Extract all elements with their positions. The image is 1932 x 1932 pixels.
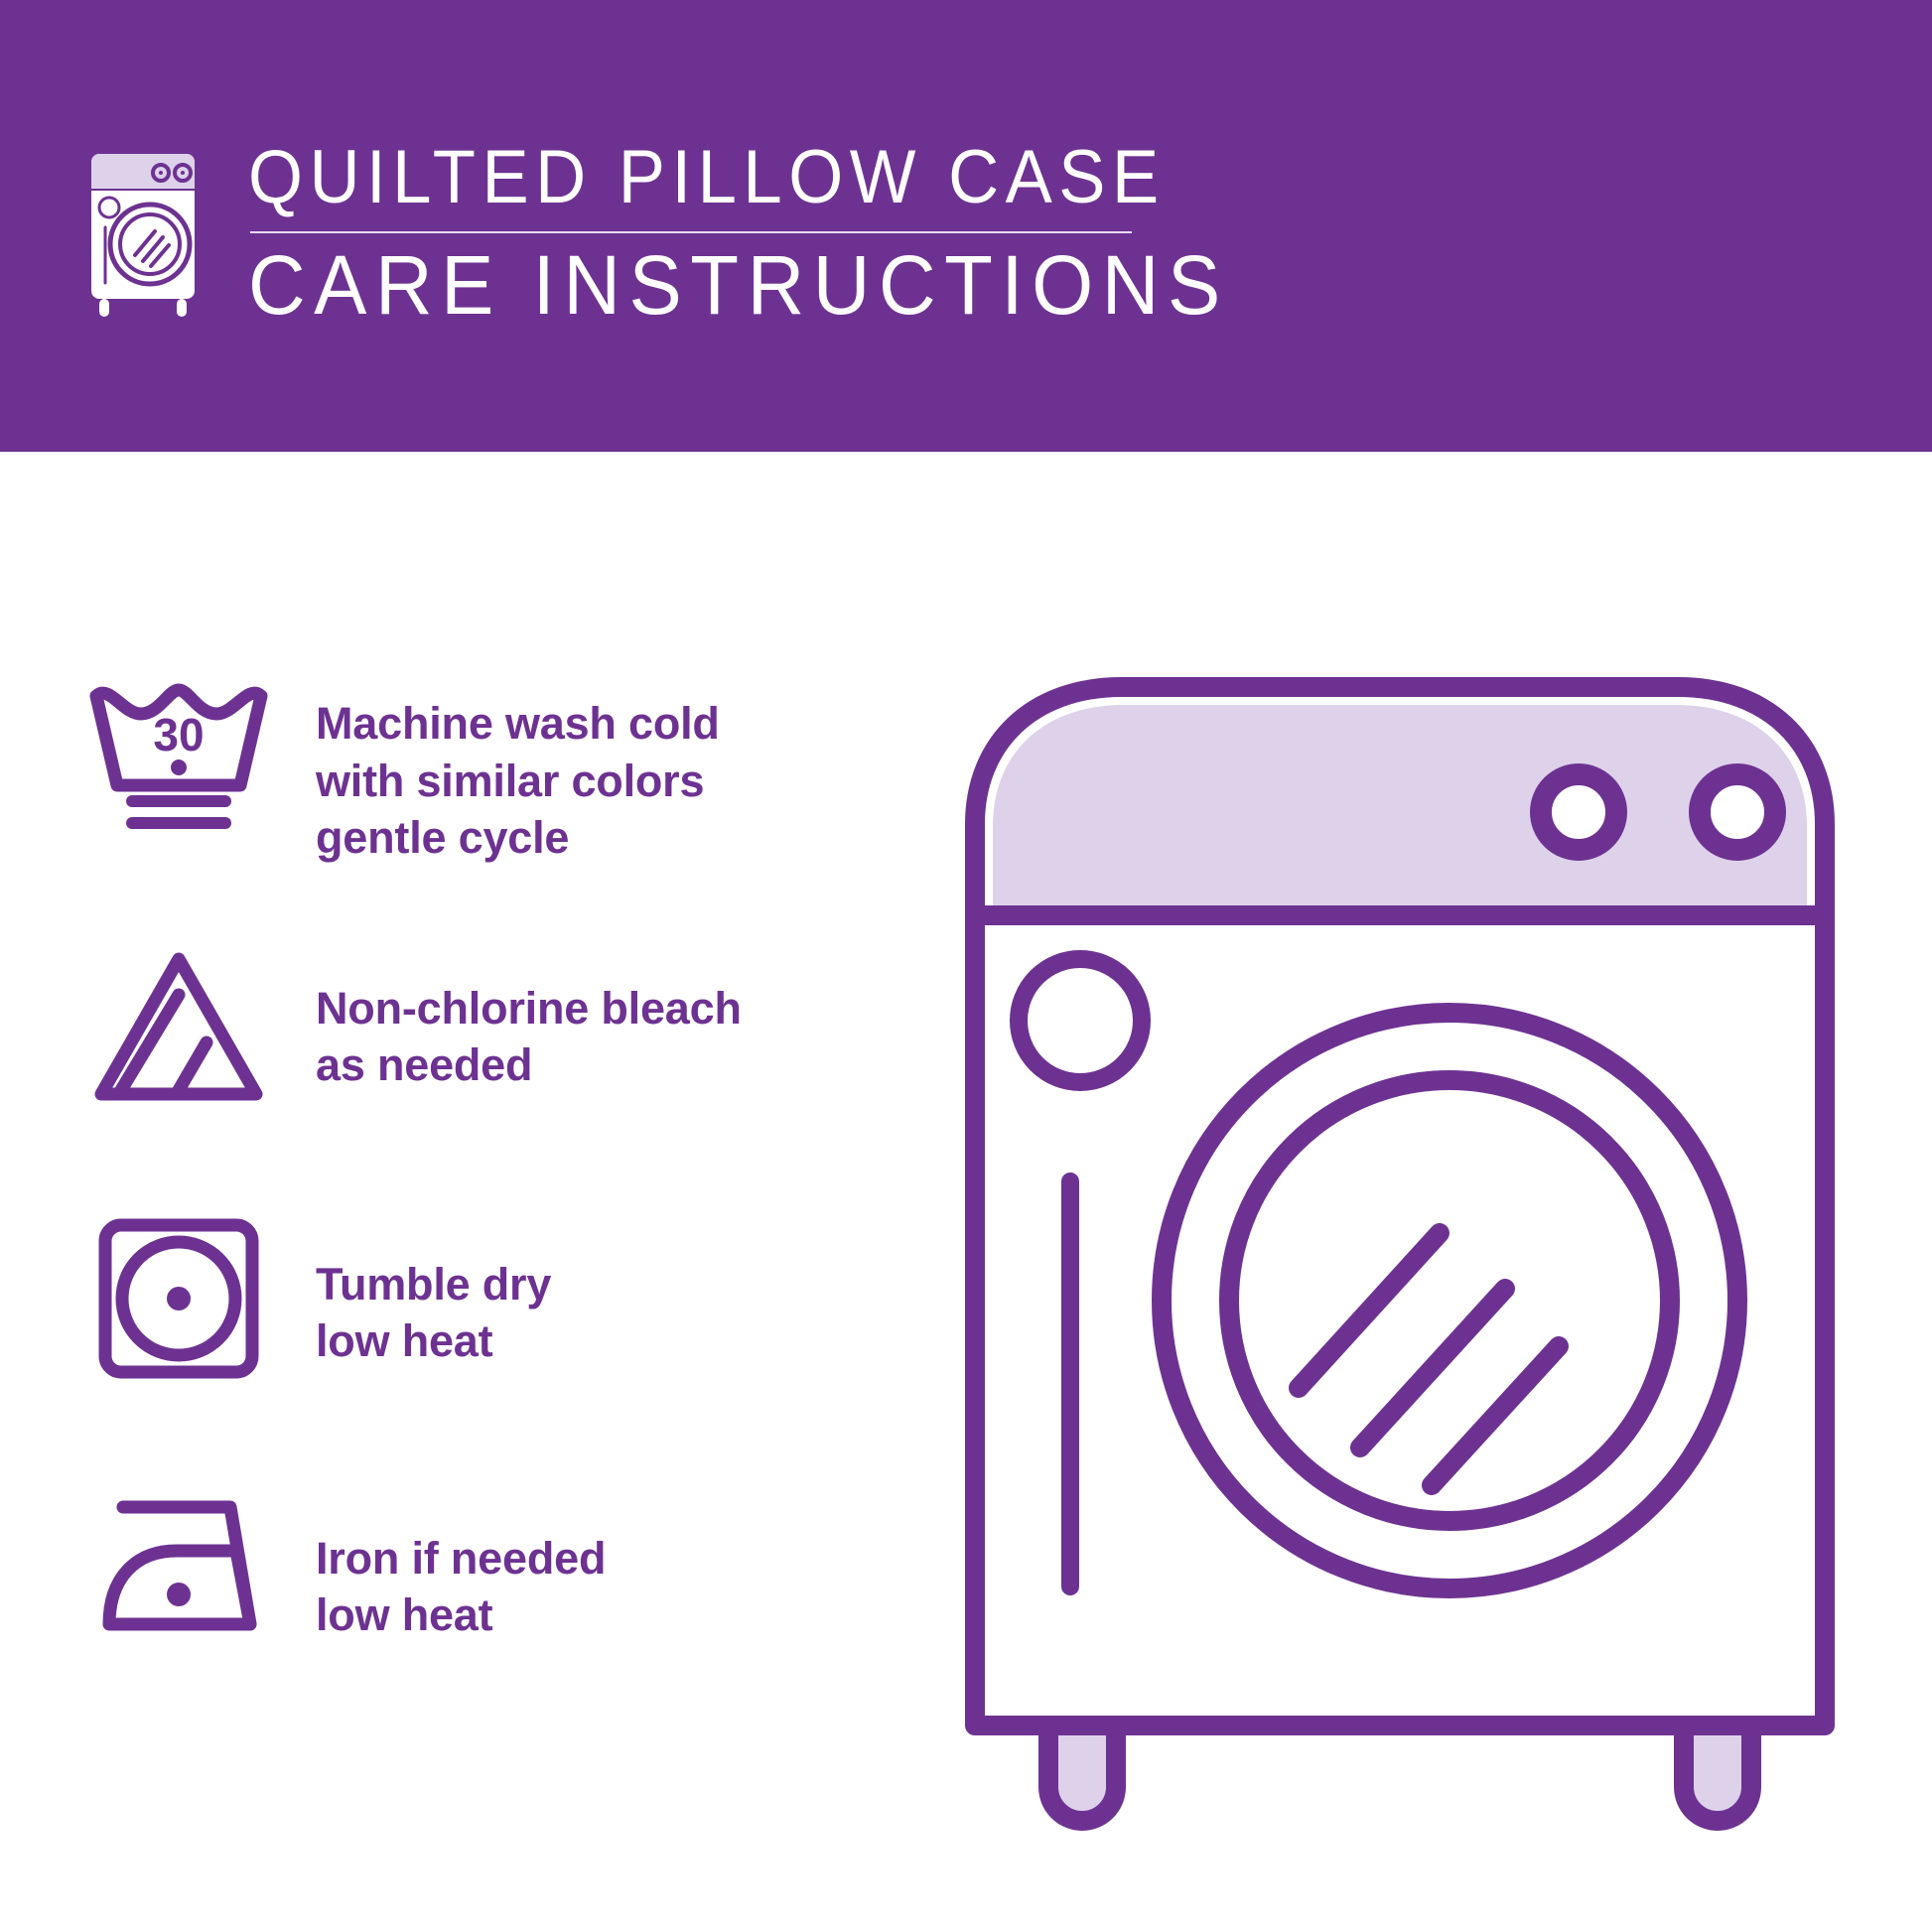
- control-knob-left[interactable]: [1541, 774, 1616, 850]
- care-symbol-tumble-dry: [79, 1198, 278, 1397]
- care-text-tumble-dry: Tumble dry low heat: [278, 1198, 903, 1370]
- control-knob-right[interactable]: [1700, 774, 1775, 850]
- care-instruction-list: 30 Machine wash cold with similar colors…: [79, 663, 903, 1726]
- care-text-wash: Machine wash cold with similar colors ge…: [278, 663, 903, 867]
- care-row-iron: Iron if needed low heat: [79, 1468, 903, 1667]
- wash-temperature-label: 30: [153, 709, 204, 760]
- non-chlorine-bleach-triangle-icon: [79, 943, 278, 1112]
- machine-foot-left: [1048, 1725, 1116, 1821]
- care-line: Tumble dry: [316, 1256, 903, 1313]
- care-symbol-wash: 30: [79, 663, 278, 862]
- care-line: gentle cycle: [316, 809, 903, 867]
- title-divider: [250, 231, 1132, 233]
- care-line: low heat: [316, 1312, 903, 1370]
- header-banner: QUILTED PILLOW CASE CARE INSTRUCTIONS: [0, 0, 1932, 452]
- care-line: Non-chlorine bleach: [316, 980, 903, 1037]
- care-row-wash: 30 Machine wash cold with similar colors…: [79, 663, 903, 867]
- care-line: low heat: [316, 1587, 903, 1644]
- care-row-bleach: Non-chlorine bleach as needed: [79, 928, 903, 1127]
- washing-machine-illustration: [953, 625, 1847, 1866]
- iron-low-heat-icon: [79, 1483, 278, 1652]
- care-line: Iron if needed: [316, 1530, 903, 1587]
- care-symbol-bleach: [79, 928, 278, 1127]
- machine-foot-right: [1684, 1725, 1751, 1821]
- care-line: with similar colors: [316, 753, 903, 810]
- header-title-group: QUILTED PILLOW CASE CARE INSTRUCTIONS: [248, 139, 1281, 329]
- care-symbol-iron: [79, 1468, 278, 1667]
- care-row-tumble-dry: Tumble dry low heat: [79, 1198, 903, 1397]
- wash-basin-30-gentle-icon: 30: [79, 678, 278, 847]
- washing-machine-icon: [77, 146, 208, 325]
- care-line: as needed: [316, 1036, 903, 1094]
- tumble-dry-low-heat-icon: [79, 1213, 278, 1382]
- care-text-bleach: Non-chlorine bleach as needed: [278, 928, 903, 1094]
- control-panel: [993, 705, 1807, 915]
- page-subtitle: CARE INSTRUCTIONS: [248, 243, 1229, 329]
- care-text-iron: Iron if needed low heat: [278, 1468, 903, 1644]
- page-title: QUILTED PILLOW CASE: [248, 139, 1208, 216]
- care-line: Machine wash cold: [316, 695, 903, 753]
